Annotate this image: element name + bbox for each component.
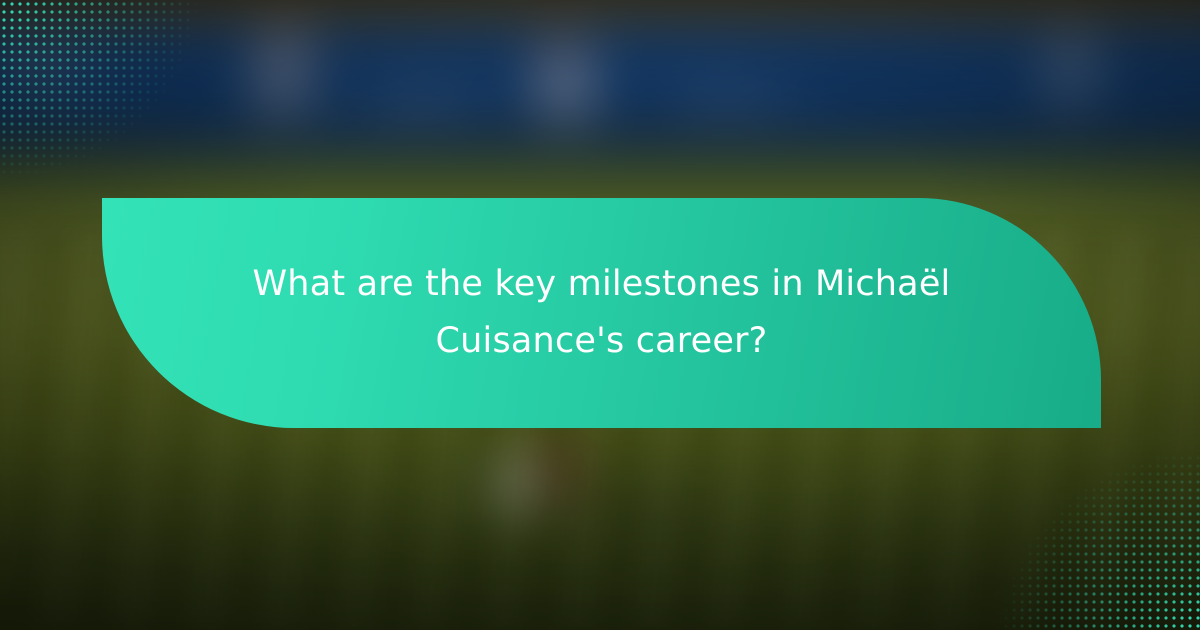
share-card: What are the key milestones in Michaël C… (0, 0, 1200, 630)
question-text: What are the key milestones in Michaël C… (252, 256, 952, 369)
question-banner: What are the key milestones in Michaël C… (102, 198, 1101, 428)
